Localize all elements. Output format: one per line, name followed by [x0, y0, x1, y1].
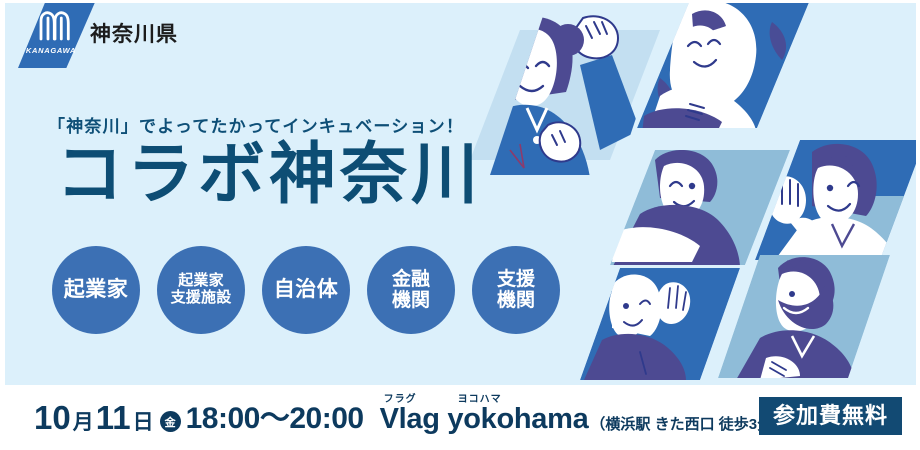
event-banner: KANAGAWA 神奈川県 「神奈川」でよってたかってインキュベーション！ コラ… [0, 0, 920, 450]
venue-name: Vlag yokohama [380, 405, 589, 434]
category-badge-municipality[interactable]: 自治体 [262, 246, 350, 334]
event-day: 11 [96, 401, 131, 434]
illustration-man-beard [718, 255, 890, 380]
event-month: 10 [34, 401, 71, 434]
logo-wordmark: KANAGAWA [15, 46, 87, 55]
frame-edge-right [916, 0, 920, 385]
category-badge-support-facility[interactable]: 起業家 支援施設 [157, 246, 245, 334]
frame-edge-top [0, 0, 920, 3]
event-info-bar: 10 月 11 日 金 18:00〜20:00 フラグ ヨコハマ Vlag yo… [0, 385, 920, 450]
category-label-line2: 支援施設 [171, 290, 232, 307]
category-badge-financial-institution[interactable]: 金融 機関 [367, 246, 455, 334]
illustration-woman-wave [580, 268, 740, 380]
frame-edge-left [0, 0, 5, 385]
venue-furigana-vlag: フラグ [384, 390, 417, 405]
category-label-line2: 機関 [497, 290, 535, 311]
kanagawa-mark-icon [34, 8, 76, 42]
venue-furigana-yokohama: ヨコハマ [458, 390, 502, 405]
category-label-line1: 起業家 [171, 273, 232, 290]
free-admission-badge: 参加費無料 [759, 397, 902, 435]
event-day-unit: 日 [133, 412, 154, 433]
event-weekday-badge: 金 [160, 411, 181, 432]
category-label-line2: 機関 [392, 290, 430, 311]
event-venue: フラグ ヨコハマ Vlag yokohama （横浜駅 きた西口 徒歩3分） [380, 405, 788, 434]
category-label: 起業家 [64, 278, 129, 302]
category-label-line1: 金融 [392, 269, 430, 290]
category-label-line1: 支援 [497, 269, 535, 290]
category-badge-entrepreneur[interactable]: 起業家 [52, 246, 140, 334]
event-time: 18:00〜20:00 [186, 404, 364, 434]
venue-access-note: （横浜駅 きた西口 徒歩3分） [590, 417, 787, 434]
event-details: 10 月 11 日 金 18:00〜20:00 フラグ ヨコハマ Vlag yo… [0, 401, 787, 434]
prefecture-logo: KANAGAWA 神奈川県 [8, 0, 178, 68]
hero-tagline: 「神奈川」でよってたかってインキュベーション！ [48, 112, 464, 137]
category-badges: 起業家 起業家 支援施設 自治体 金融 機関 支援 機関 [52, 246, 560, 334]
category-label: 自治体 [274, 278, 339, 302]
organization-name: 神奈川県 [90, 18, 178, 48]
event-month-unit: 月 [73, 412, 94, 433]
category-badge-support-organization[interactable]: 支援 機関 [472, 246, 560, 334]
page-title: コラボ神奈川 [56, 140, 482, 210]
